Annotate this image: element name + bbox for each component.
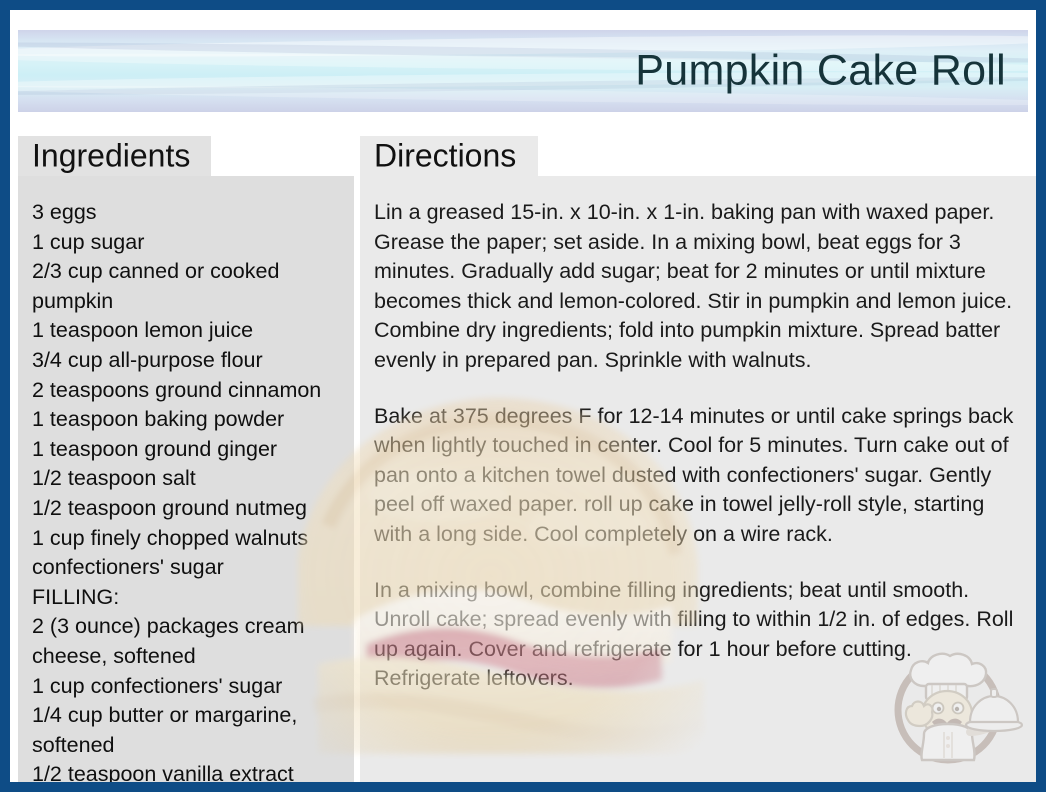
ingredient-item: 2/3 cup canned or cooked pumpkin: [32, 257, 344, 316]
ingredient-item: 1 cup finely chopped walnuts: [32, 524, 344, 554]
recipe-card: Pumpkin Cake Roll Ingredients 3 eggs1 cu…: [0, 0, 1046, 792]
direction-paragraph: Bake at 375 degrees F for 12-14 minutes …: [374, 402, 1022, 550]
direction-paragraph: In a mixing bowl, combine filling ingred…: [374, 576, 1022, 694]
recipe-title: Pumpkin Cake Roll: [635, 47, 1006, 96]
directions-heading-label: Directions: [374, 138, 516, 175]
ingredient-item: 2 (3 ounce) packages cream cheese, softe…: [32, 612, 344, 671]
directions-heading-tab: Directions: [360, 136, 538, 176]
ingredient-item: 1/2 teaspoon ground nutmeg: [32, 494, 344, 524]
ingredient-item: FILLING:: [32, 583, 344, 613]
ingredients-heading-tab: Ingredients: [18, 136, 211, 176]
ingredient-item: 2 teaspoons ground cinnamon: [32, 376, 344, 406]
title-banner: Pumpkin Cake Roll: [18, 30, 1028, 112]
ingredients-list: 3 eggs1 cup sugar2/3 cup canned or cooke…: [32, 198, 344, 790]
ingredient-item: 3 eggs: [32, 198, 344, 228]
ingredient-item: 1 teaspoon baking powder: [32, 405, 344, 435]
ingredients-panel: 3 eggs1 cup sugar2/3 cup canned or cooke…: [18, 176, 354, 782]
ingredient-item: 1 teaspoon ground ginger: [32, 435, 344, 465]
direction-paragraph: Lin a greased 15-in. x 10-in. x 1-in. ba…: [374, 198, 1022, 376]
ingredients-heading-label: Ingredients: [32, 138, 190, 175]
ingredient-item: 1/2 teaspoon vanilla extract: [32, 760, 344, 790]
ingredient-item: 3/4 cup all-purpose flour: [32, 346, 344, 376]
ingredient-item: confectioners' sugar: [32, 553, 344, 583]
directions-body: Lin a greased 15-in. x 10-in. x 1-in. ba…: [374, 198, 1022, 694]
ingredient-item: 1/2 teaspoon salt: [32, 464, 344, 494]
ingredient-item: 1 cup sugar: [32, 228, 344, 258]
ingredient-item: 1 cup confectioners' sugar: [32, 672, 344, 702]
ingredient-item: 1 teaspoon lemon juice: [32, 316, 344, 346]
directions-panel: Lin a greased 15-in. x 10-in. x 1-in. ba…: [360, 176, 1038, 782]
ingredient-item: 1/4 cup butter or margarine, softened: [32, 701, 344, 760]
